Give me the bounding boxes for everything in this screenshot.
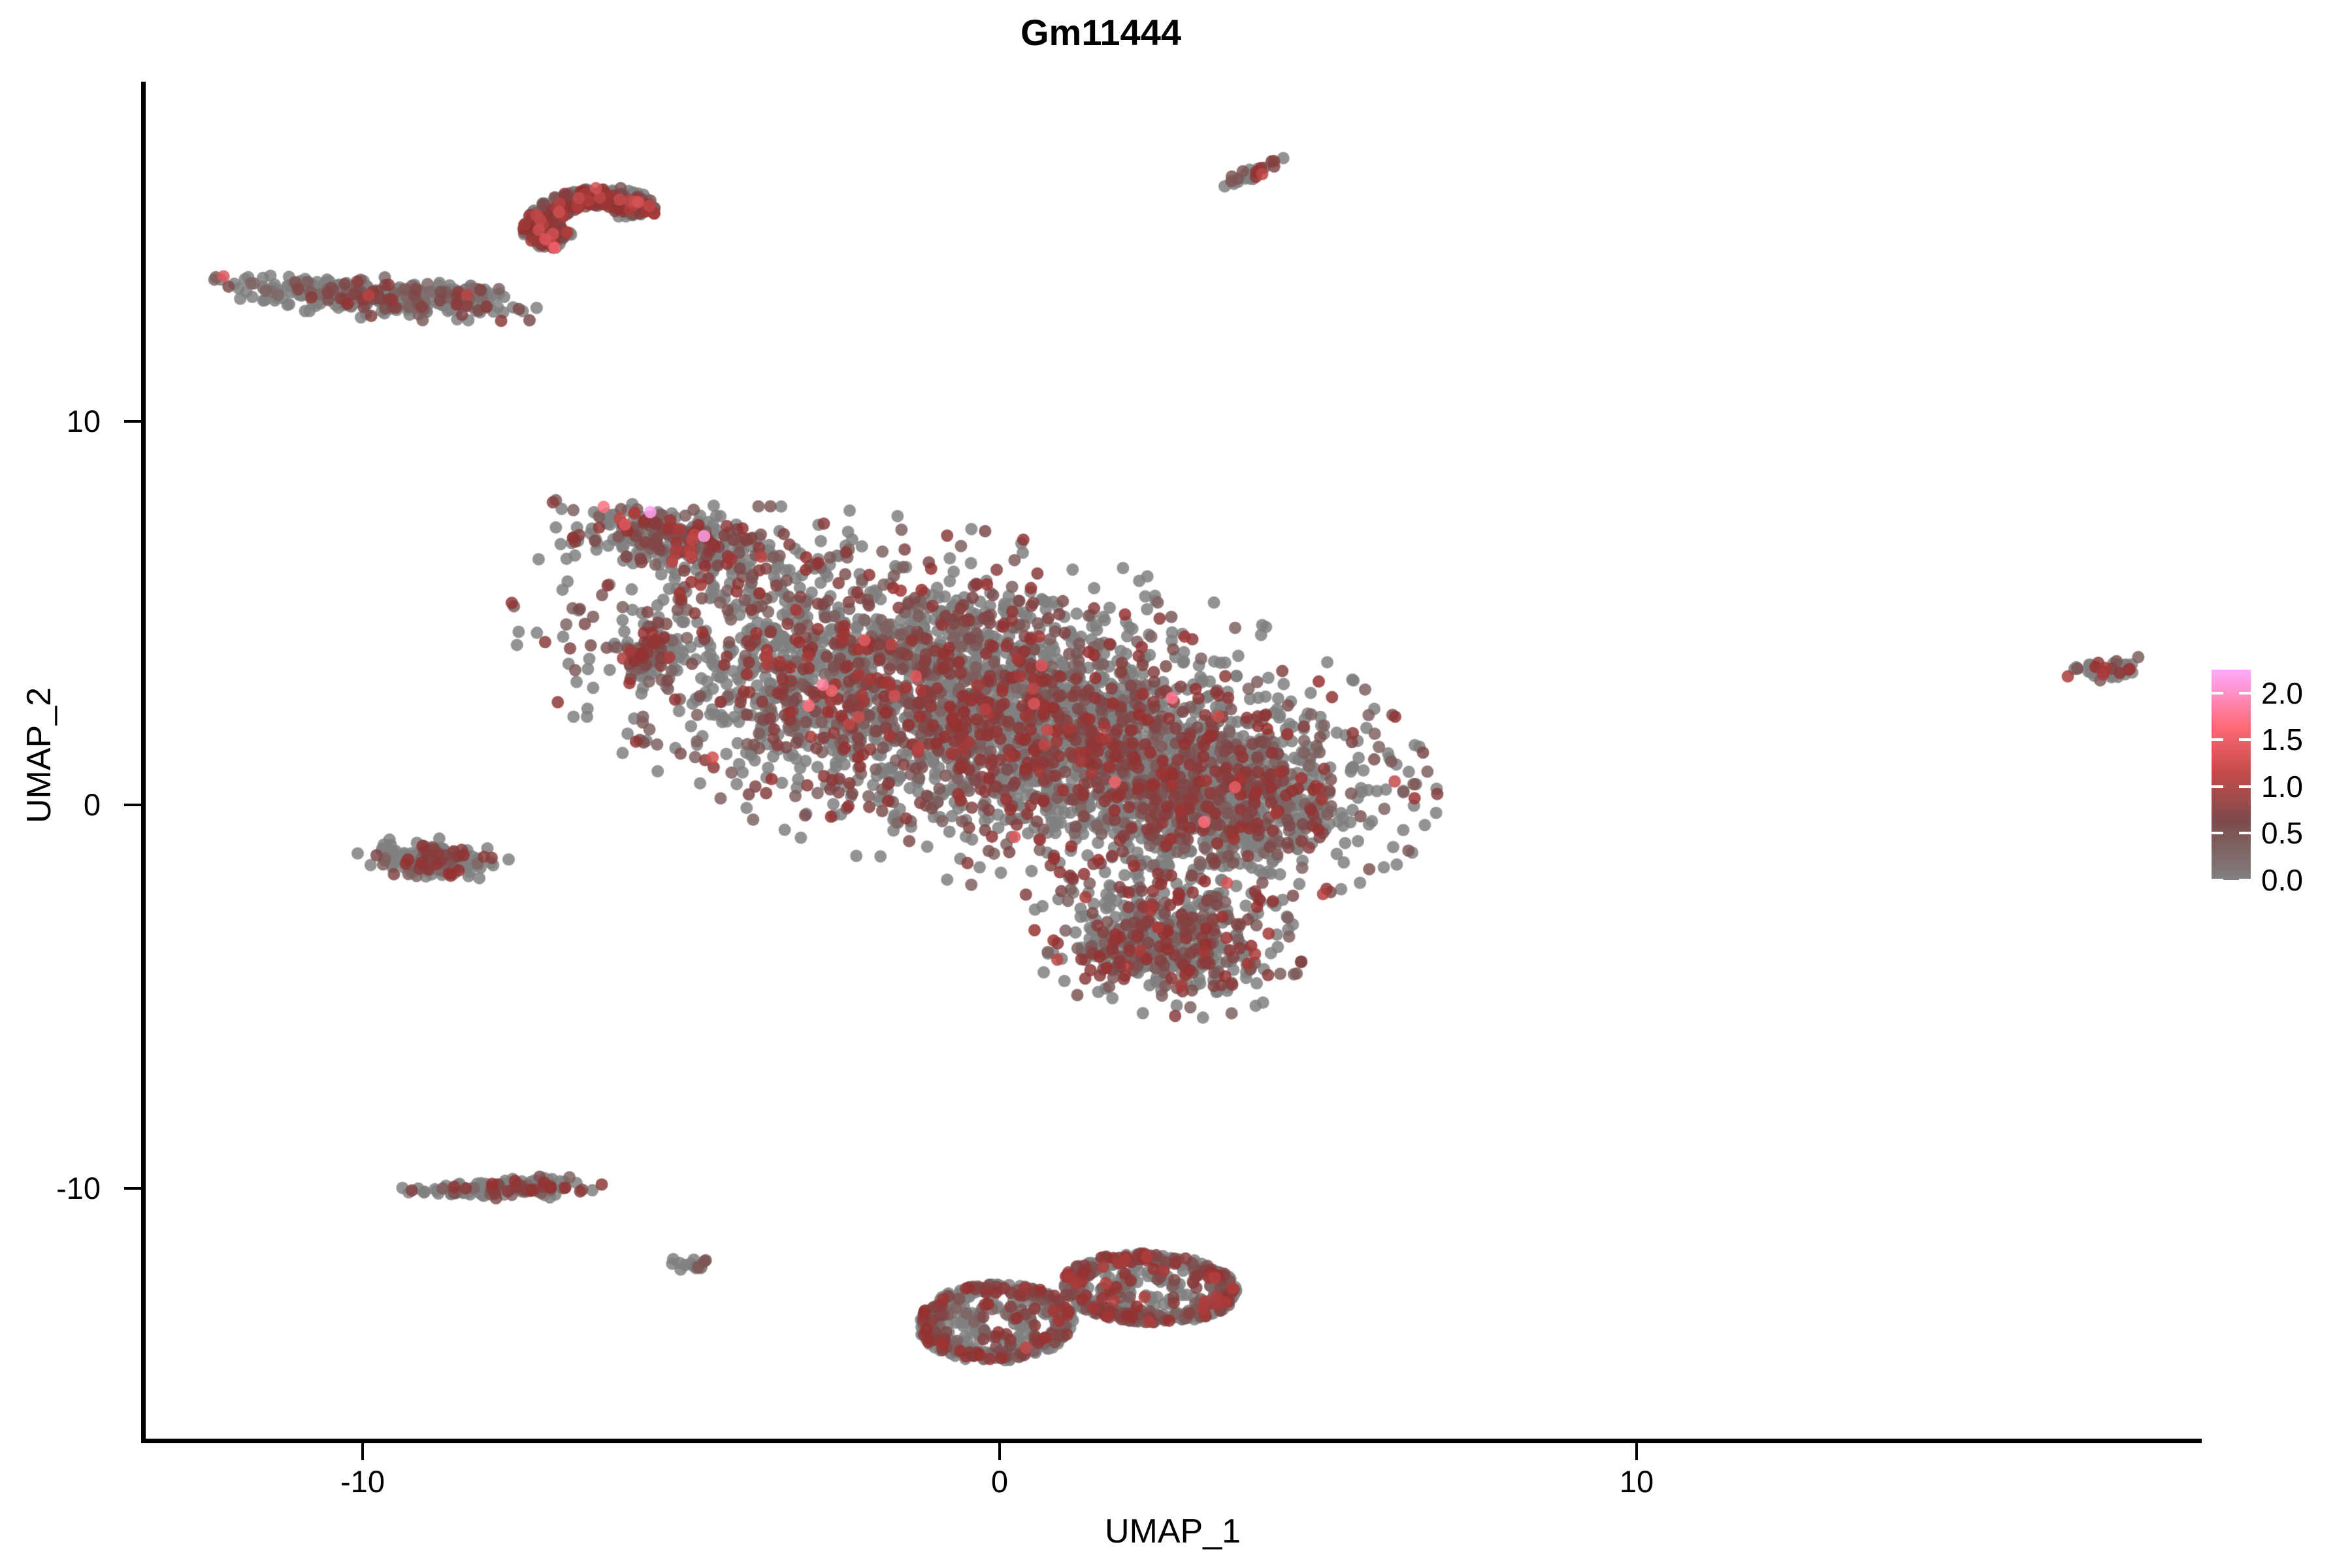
y-tick-label-2: -10 <box>0 1173 124 1203</box>
legend-label-0: 2.0 <box>2261 678 2303 708</box>
legend-tickmark-2-left <box>2212 785 2223 788</box>
legend-label-4: 0.0 <box>2261 865 2303 895</box>
x-tick-label-1: 0 <box>902 1466 1098 1497</box>
x-tick-2 <box>1635 1443 1638 1460</box>
x-tick-0 <box>361 1443 364 1460</box>
legend-tickmark-0-left <box>2212 692 2223 694</box>
legend-label-3: 0.5 <box>2261 818 2303 848</box>
y-tick-0 <box>124 420 141 423</box>
x-axis-line <box>144 1439 2202 1443</box>
x-tick-1 <box>998 1443 1001 1460</box>
legend-tickmark-3-right <box>2239 832 2251 834</box>
legend-tickmark-2-right <box>2239 785 2251 788</box>
plot-panel <box>144 82 2202 1441</box>
legend-tickmark-1-left <box>2212 738 2223 741</box>
legend-tickmark-1-right <box>2239 738 2251 741</box>
y-axis-title: UMAP_2 <box>22 0 56 1539</box>
y-tick-1 <box>124 804 141 806</box>
x-tick-label-2: 10 <box>1539 1466 1735 1497</box>
legend-label-2: 1.0 <box>2261 772 2303 802</box>
page-title: Gm11444 <box>0 14 2202 51</box>
y-tick-label-1: 0 <box>0 789 124 820</box>
legend-colorbar <box>2212 670 2251 880</box>
legend-tickmark-4-right <box>2239 879 2251 881</box>
x-tick-label-0: -10 <box>265 1466 461 1497</box>
legend-label-1: 1.5 <box>2261 725 2303 755</box>
umap-scatter-canvas <box>144 82 2202 1441</box>
y-tick-label-0: 10 <box>0 406 124 436</box>
legend-tickmark-3-left <box>2212 832 2223 834</box>
x-axis-title: UMAP_1 <box>144 1514 2202 1548</box>
figure-root: Gm11444 -10010 100-10 UMAP_1 UMAP_2 2.01… <box>0 0 2352 1568</box>
legend-tickmark-4-left <box>2212 879 2223 881</box>
y-tick-2 <box>124 1187 141 1190</box>
legend-tickmark-0-right <box>2239 692 2251 694</box>
y-axis-line <box>141 82 146 1443</box>
